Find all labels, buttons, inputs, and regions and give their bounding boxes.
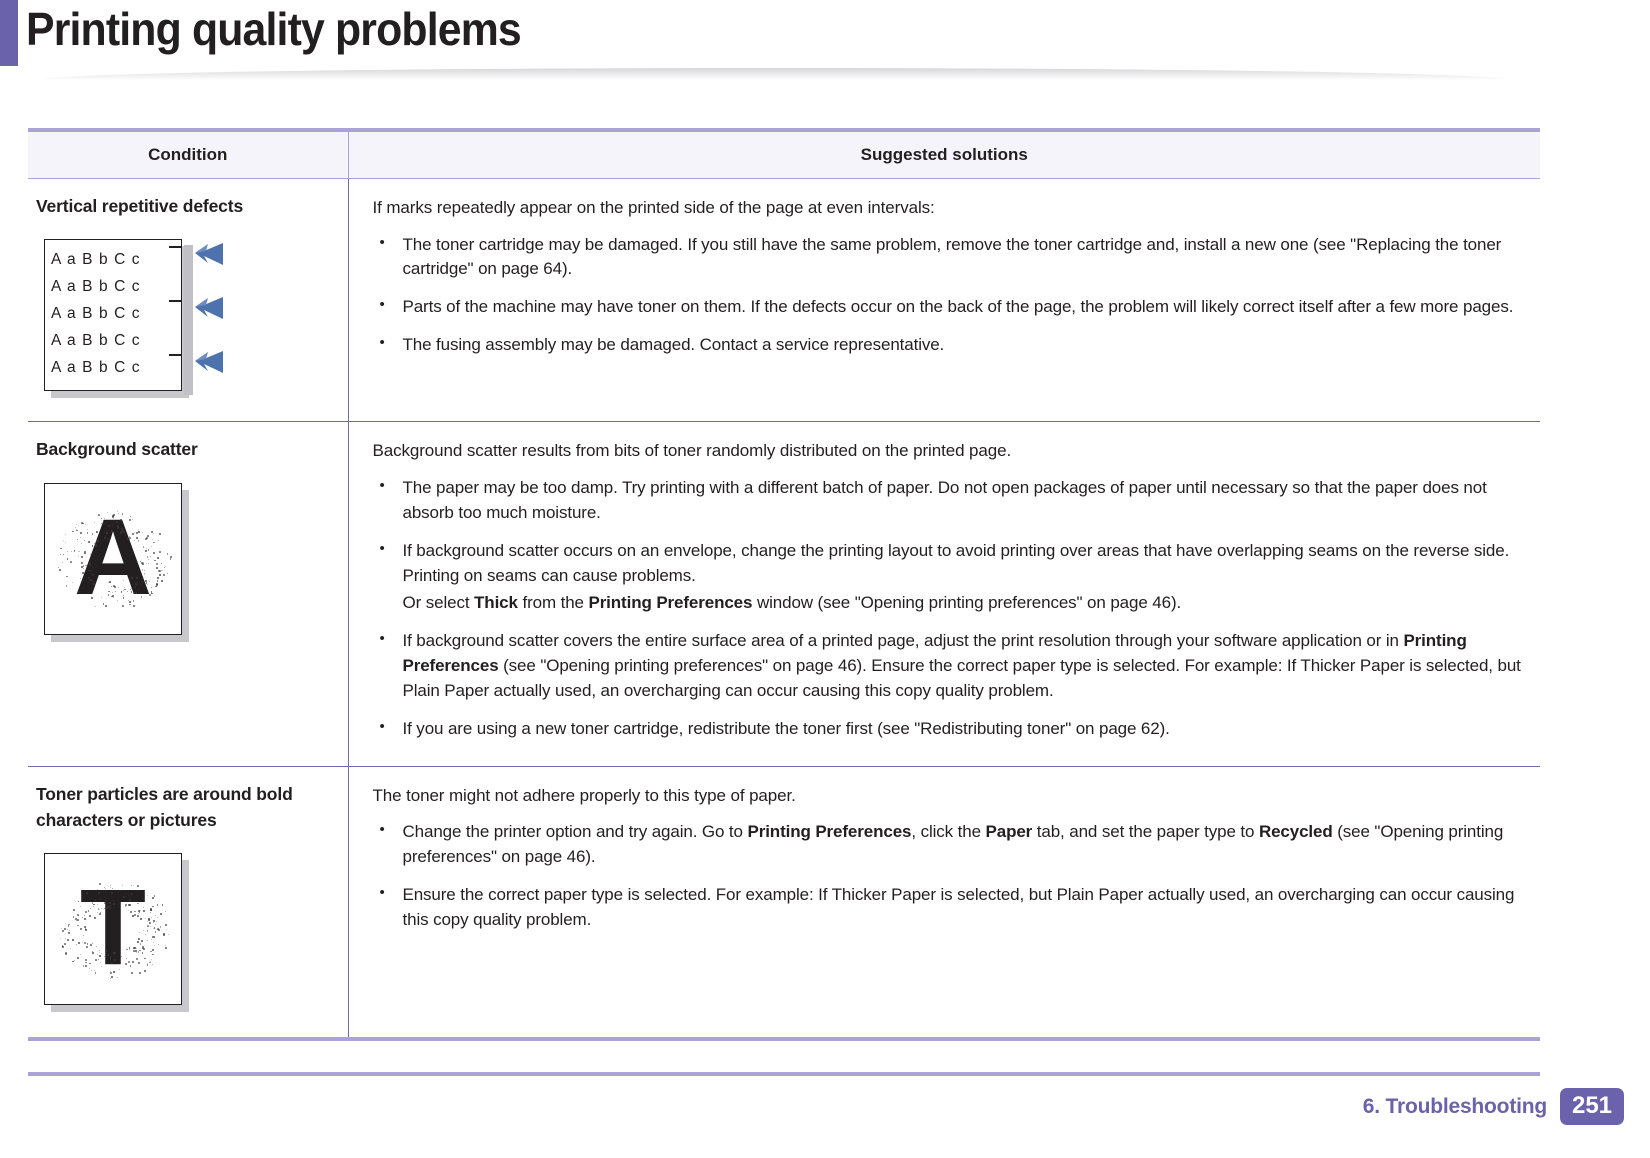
toner-speck [81, 543, 82, 544]
toner-speck [143, 898, 144, 899]
toner-speck [74, 960, 75, 961]
toner-speck [115, 591, 116, 592]
toner-speck [105, 900, 106, 901]
printed-sheet: A a B b C cA a B b C cA a B b C cA a B b… [44, 239, 182, 391]
toner-speck [72, 582, 73, 583]
toner-speck [86, 892, 88, 894]
toner-speck [144, 570, 145, 571]
toner-speck [141, 940, 143, 942]
toner-speck [125, 904, 127, 906]
toner-speck [132, 533, 134, 535]
toner-speck [131, 588, 132, 589]
toner-speck [85, 911, 87, 913]
toner-speck [154, 895, 156, 897]
toner-speck [151, 959, 152, 960]
toner-speck [113, 900, 114, 901]
toner-speck [105, 892, 106, 893]
toner-speck [136, 958, 138, 960]
toner-speck [140, 918, 142, 920]
toner-speck [170, 558, 172, 560]
toner-speck [143, 948, 145, 950]
toner-speck [118, 537, 119, 538]
toner-speck [85, 928, 86, 929]
toner-speck [94, 576, 95, 577]
emphasis-text: Printing Preferences [747, 822, 911, 841]
toner-speck [110, 972, 112, 974]
toner-speck [60, 938, 61, 939]
toner-speck [132, 519, 133, 520]
toner-speck [129, 537, 131, 539]
column-header-solutions: Suggested solutions [348, 130, 1540, 179]
toner-speck [114, 907, 115, 908]
toner-speck [125, 894, 126, 895]
toner-speck [70, 561, 72, 563]
toner-speck [136, 537, 138, 539]
toner-speck [153, 542, 154, 543]
footer-page-number: 251 [1560, 1088, 1624, 1125]
toner-speck [97, 889, 98, 890]
solution-bullet-item: Parts of the machine may have toner on t… [373, 295, 1533, 320]
toner-speck [99, 883, 101, 885]
defect-mark [169, 300, 181, 302]
toner-speck [138, 951, 139, 952]
toner-speck [89, 564, 91, 566]
table-header-row: Condition Suggested solutions [28, 130, 1540, 179]
toner-speck [149, 922, 151, 924]
toner-speck [84, 572, 85, 573]
toner-speck [90, 908, 91, 909]
toner-speck [156, 921, 157, 922]
toner-speck [145, 918, 146, 919]
toner-speck [96, 946, 97, 947]
toner-speck [134, 914, 136, 916]
toner-speck [87, 529, 88, 530]
sample-text-line: A a B b C c [51, 354, 177, 381]
toner-speck [95, 900, 96, 901]
condition-label: Vertical repetitive defects [36, 193, 334, 219]
toner-speck [167, 553, 168, 554]
toner-speck [113, 952, 115, 954]
toner-speck [99, 913, 101, 915]
table-row: Toner particles are around bold characte… [28, 766, 1540, 1039]
toner-speck [64, 943, 66, 945]
toner-speck [160, 913, 162, 915]
toner-speck [79, 551, 80, 552]
toner-speck [158, 929, 160, 931]
toner-speck [165, 945, 166, 946]
emphasis-text: Recycled [1259, 822, 1333, 841]
condition-cell: Toner particles are around bold characte… [28, 766, 348, 1039]
toner-speck [107, 512, 108, 513]
toner-speck [111, 976, 113, 978]
toner-speck [141, 562, 143, 564]
toner-speck [145, 934, 146, 935]
toner-speck [113, 514, 115, 516]
toner-speck [108, 525, 110, 527]
toner-speck [65, 938, 66, 939]
toner-speck [77, 919, 79, 921]
toner-speck [144, 573, 145, 574]
toner-speck [76, 944, 77, 945]
toner-speck [131, 584, 132, 585]
emphasis-text: Thick [474, 593, 518, 612]
toner-speck [62, 930, 64, 932]
toner-speck [100, 962, 101, 963]
defect-mark [169, 246, 181, 248]
toner-speck [161, 570, 162, 571]
sample-image-vertical-repetitive-defects: A a B b C cA a B b C cA a B b C cA a B b… [44, 239, 244, 399]
toner-speck [128, 904, 130, 906]
toner-speck [139, 589, 140, 590]
toner-speck [92, 581, 93, 582]
toner-speck [138, 962, 140, 964]
toner-speck [91, 970, 92, 971]
toner-speck [166, 929, 167, 930]
toner-speck [151, 917, 152, 918]
toner-speck [83, 965, 84, 966]
sample-text-line: A a B b C c [51, 246, 177, 273]
sample-text-line: A a B b C c [51, 327, 177, 354]
toner-speck [85, 959, 87, 961]
printing-quality-table: Condition Suggested solutions Vertical r… [28, 128, 1540, 1041]
toner-speck [143, 907, 144, 908]
toner-speck [89, 968, 90, 969]
toner-speck [123, 580, 124, 581]
toner-speck [96, 540, 98, 542]
page-footer: 6. Troubleshooting 251 [1363, 1088, 1624, 1125]
toner-speck [81, 891, 82, 892]
toner-speck [148, 918, 150, 920]
printing-quality-table-container: Condition Suggested solutions Vertical r… [28, 128, 1540, 1041]
toner-speck [147, 921, 148, 922]
toner-speck [165, 566, 166, 567]
toner-speck [90, 570, 92, 572]
toner-speck [123, 595, 124, 596]
toner-speck [120, 532, 122, 534]
toner-speck [93, 583, 95, 585]
toner-speck [129, 601, 131, 603]
toner-speck [65, 542, 66, 543]
solutions-cell: The toner might not adhere properly to t… [348, 766, 1540, 1039]
toner-speck [104, 956, 105, 957]
toner-speck [59, 569, 61, 571]
table-head: Condition Suggested solutions [28, 130, 1540, 179]
toner-speck [108, 582, 109, 583]
toner-speck [151, 546, 152, 547]
toner-speck [147, 963, 148, 964]
toner-speck [69, 930, 70, 931]
toner-speck [133, 605, 135, 607]
solution-bullet-item: Ensure the correct paper type is selecte… [373, 883, 1533, 933]
toner-speck [89, 915, 91, 917]
toner-speck [142, 569, 143, 570]
toner-speck [134, 532, 135, 533]
toner-speck [84, 942, 86, 944]
toner-speck [61, 928, 62, 929]
toner-speck [133, 600, 134, 601]
toner-speck [89, 566, 90, 567]
toner-speck [78, 551, 79, 552]
toner-speck [78, 942, 80, 944]
toner-speck [104, 902, 106, 904]
toner-speck [159, 570, 161, 572]
emphasis-text: Printing Preferences [588, 593, 752, 612]
toner-speck [117, 527, 119, 529]
column-header-condition: Condition [28, 130, 348, 179]
toner-speck [110, 525, 111, 526]
toner-speck [101, 966, 102, 967]
toner-speck [152, 539, 153, 540]
toner-speck [149, 581, 150, 582]
solution-bullet-subline: Or select Thick from the Printing Prefer… [403, 591, 1533, 616]
toner-speck [136, 900, 137, 901]
toner-speck [63, 540, 64, 541]
toner-speck [90, 554, 91, 555]
toner-speck [155, 924, 156, 925]
toner-speck [107, 539, 109, 541]
toner-speck [136, 948, 137, 949]
toner-speck [147, 895, 148, 896]
emphasis-text: Printing Preferences [403, 631, 1467, 675]
footer-rule [28, 1072, 1540, 1076]
toner-speck [62, 562, 63, 563]
toner-speck [153, 928, 154, 929]
toner-speck [65, 952, 67, 954]
toner-speck [147, 940, 148, 941]
solution-lead-text: The toner might not adhere properly to t… [373, 783, 1533, 809]
toner-speck [92, 952, 94, 954]
toner-speck [131, 577, 133, 579]
toner-speck [112, 888, 113, 889]
toner-speck [138, 529, 139, 530]
toner-speck [130, 911, 132, 913]
toner-speck [109, 905, 111, 907]
toner-speck [80, 954, 81, 955]
solution-lead-text: If marks repeatedly appear on the printe… [373, 195, 1533, 221]
toner-speck [79, 591, 81, 593]
toner-speck [98, 514, 100, 516]
toner-speck [82, 917, 84, 919]
solution-bullet-item: Change the printer option and try again.… [373, 820, 1533, 870]
toner-speck [94, 970, 95, 971]
solution-bullet-list: The toner cartridge may be damaged. If y… [373, 233, 1533, 359]
sample-text-line: A a B b C c [51, 273, 177, 300]
toner-speck [150, 951, 152, 953]
toner-speck [107, 954, 109, 956]
toner-speck [134, 911, 136, 913]
toner-speck [128, 910, 129, 911]
condition-label: Toner particles are around bold characte… [36, 781, 334, 834]
page-header: Printing quality problems [0, 0, 1650, 82]
toner-speck [83, 565, 84, 566]
toner-speck [147, 925, 149, 927]
solution-bullet-item: If background scatter covers the entire … [373, 629, 1533, 704]
toner-speck [92, 951, 93, 952]
title-accent-bar [0, 0, 18, 66]
toner-speck [81, 592, 82, 593]
toner-speck [85, 962, 87, 964]
toner-speck [94, 917, 96, 919]
solutions-cell: If marks repeatedly appear on the printe… [348, 179, 1540, 422]
toner-speck [95, 544, 97, 546]
toner-speck [118, 902, 119, 903]
solution-lead-text: Background scatter results from bits of … [373, 438, 1533, 464]
toner-speck [150, 908, 152, 910]
sample-text-line: A a B b C c [51, 300, 177, 327]
toner-speck [110, 887, 111, 888]
page-title: Printing quality problems [26, 2, 521, 56]
toner-speck [92, 533, 93, 534]
toner-speck [83, 935, 84, 936]
toner-speck [137, 582, 138, 583]
toner-speck [139, 932, 140, 933]
toner-speck [149, 594, 151, 596]
toner-speck [122, 605, 124, 607]
solution-bullet-item: The fusing assembly may be damaged. Cont… [373, 333, 1533, 358]
toner-speck [64, 928, 66, 930]
toner-speck [143, 930, 144, 931]
toner-speck [113, 903, 115, 905]
table-body: Vertical repetitive defectsA a B b C cA … [28, 179, 1540, 1040]
toner-speck [147, 584, 148, 585]
printed-sheet: A [44, 483, 182, 635]
footer-chapter-label: 6. Troubleshooting [1363, 1095, 1547, 1119]
toner-speck [78, 525, 79, 526]
toner-speck [99, 909, 100, 910]
toner-speck [68, 924, 70, 926]
toner-speck [101, 953, 102, 954]
toner-speck [156, 563, 158, 565]
toner-speck [154, 945, 155, 946]
toner-speck [97, 912, 98, 913]
condition-label: Background scatter [36, 436, 334, 462]
toner-speck [117, 531, 118, 532]
toner-speck [113, 585, 115, 587]
toner-speck [113, 597, 114, 598]
toner-speck [82, 572, 84, 574]
toner-speck [121, 956, 122, 957]
sample-image-toner-particles: T [44, 853, 196, 1015]
toner-speck [88, 910, 90, 912]
condition-cell: Background scatterA [28, 422, 348, 766]
toner-speck [86, 946, 88, 948]
toner-speck [65, 923, 66, 924]
condition-cell: Vertical repetitive defectsA a B b C cA … [28, 179, 348, 422]
toner-speck [146, 537, 148, 539]
sample-image-background-scatter: A [44, 483, 196, 645]
toner-speck [80, 906, 81, 907]
solution-bullet-list: The paper may be too damp. Try printing … [373, 476, 1533, 742]
toner-speck [128, 961, 130, 963]
toner-speck [80, 585, 81, 586]
toner-speck [68, 932, 70, 934]
toner-speck [78, 556, 79, 557]
toner-speck [155, 931, 156, 932]
toner-speck [126, 958, 127, 959]
toner-speck [157, 904, 159, 906]
solution-bullet-list: Change the printer option and try again.… [373, 820, 1533, 933]
solutions-cell: Background scatter results from bits of … [348, 422, 1540, 766]
toner-speck [161, 580, 163, 582]
toner-speck [112, 523, 113, 524]
defect-mark [169, 354, 181, 356]
toner-speck [122, 513, 123, 514]
emphasis-text: Paper [986, 822, 1033, 841]
toner-speck [119, 521, 120, 522]
toner-speck [143, 910, 145, 912]
toner-speck [95, 959, 97, 961]
toner-speck [72, 531, 74, 533]
toner-speck [137, 885, 139, 887]
toner-speck [153, 552, 155, 554]
toner-speck [88, 562, 89, 563]
toner-speck [110, 908, 112, 910]
toner-speck [165, 947, 167, 949]
solution-bullet-item: The toner cartridge may be damaged. If y… [373, 233, 1533, 283]
toner-speck [123, 590, 124, 591]
toner-speck [83, 568, 84, 569]
toner-speck [139, 890, 140, 891]
title-underline-shadow [40, 68, 1510, 80]
solution-bullet-item: If background scatter occurs on an envel… [373, 539, 1533, 616]
toner-speck [162, 570, 163, 571]
toner-speck [139, 950, 140, 951]
toner-speck [81, 522, 83, 524]
solution-bullet-item: If you are using a new toner cartridge, … [373, 717, 1533, 742]
table-row: Background scatterABackground scatter re… [28, 422, 1540, 766]
solution-bullet-item: The paper may be too damp. Try printing … [373, 476, 1533, 526]
toner-speck [104, 518, 105, 519]
printed-sheet: T [44, 853, 182, 1005]
toner-speck [153, 533, 154, 534]
toner-speck [135, 583, 137, 585]
toner-speck [147, 535, 149, 537]
toner-speck [128, 897, 129, 898]
toner-speck [152, 897, 154, 899]
toner-speck [118, 513, 119, 514]
toner-speck [152, 949, 154, 951]
toner-speck [105, 522, 106, 523]
table-row: Vertical repetitive defectsA a B b C cA … [28, 179, 1540, 422]
sample-text-lines: A a B b C cA a B b C cA a B b C cA a B b… [51, 246, 177, 381]
toner-speck [85, 565, 86, 566]
toner-speck [99, 952, 100, 953]
toner-speck [66, 585, 67, 586]
toner-speck [148, 549, 150, 551]
toner-speck [77, 925, 78, 926]
